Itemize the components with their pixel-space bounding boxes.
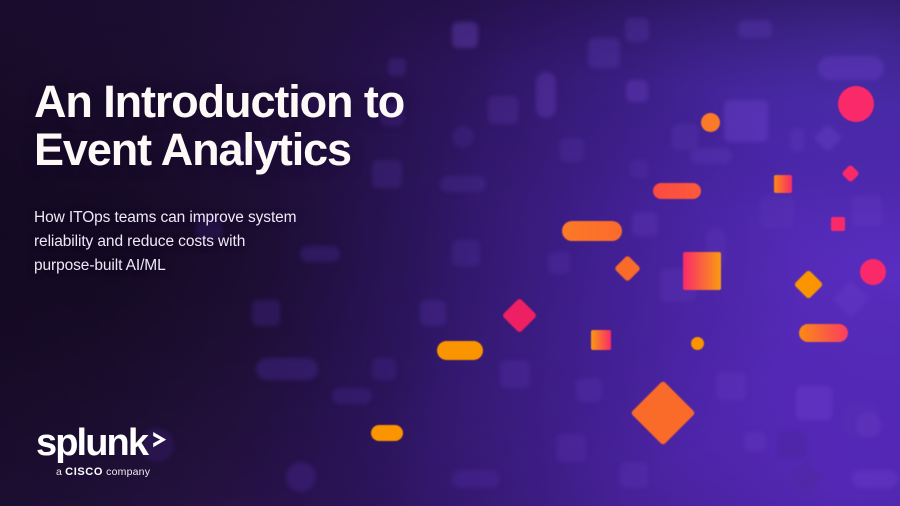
accent-pill-orange-mid (562, 221, 622, 241)
logo-tagline: a CISCO company (36, 466, 170, 478)
accent-diamond-pink-mid (502, 298, 537, 333)
accent-square-pink-small (831, 217, 845, 231)
accent-diamond-orange-sm (614, 255, 641, 282)
accent-circle-pink-top (838, 86, 874, 122)
chevron-right-icon (150, 429, 170, 456)
accent-square-mini-grad (774, 175, 792, 193)
accent-pill-red (653, 183, 701, 199)
page-subtitle: How ITOps teams can improve system relia… (34, 206, 354, 278)
slide-canvas: An Introduction to Event Analytics How I… (0, 0, 900, 506)
accent-diamond-orange-big (630, 380, 695, 445)
logo-tagline-brand: CISCO (65, 466, 103, 478)
accent-diamond-pink-mini (841, 164, 859, 182)
accent-pill-grad-right (799, 324, 848, 342)
logo-tagline-lead: a (56, 466, 65, 478)
accent-circle-orange-tiny (691, 337, 704, 350)
accent-circle-pink-right (860, 259, 886, 285)
accent-circle-orange-small (701, 113, 720, 132)
logo-tagline-suffix: company (103, 466, 150, 478)
splunk-logo: splunk a CISCO company (36, 425, 170, 478)
accent-square-grad-large (683, 252, 721, 290)
page-title: An Introduction to Event Analytics (34, 78, 404, 174)
logo-wordmark-text: splunk (36, 425, 147, 461)
accent-diamond-amber (794, 270, 824, 300)
accent-square-grad-mid (591, 330, 611, 350)
logo-wordmark-row: splunk (36, 425, 170, 461)
